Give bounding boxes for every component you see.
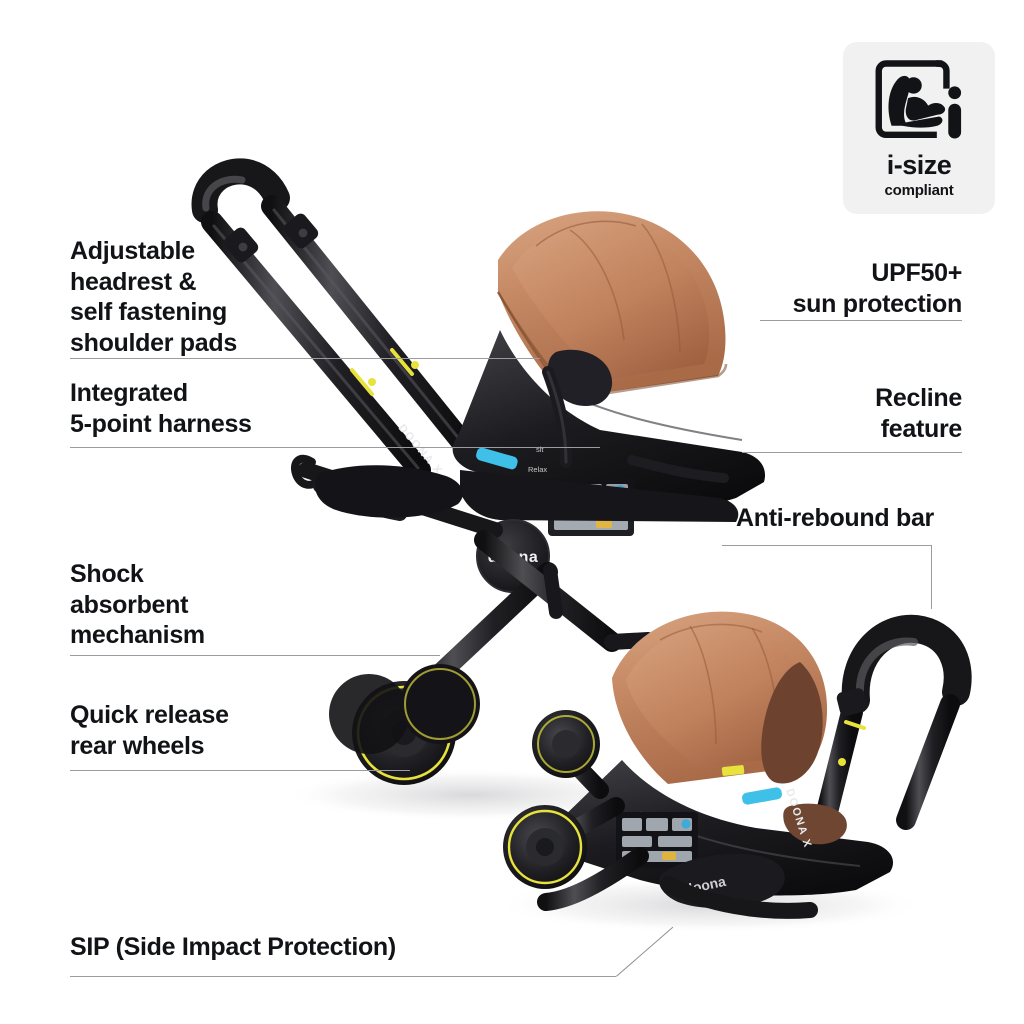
leader-line-sun-protection xyxy=(760,320,962,321)
leader-line-quick-release-wheels xyxy=(70,770,410,771)
callout-sun-protection: UPF50+ sun protection xyxy=(793,258,962,319)
callout-quick-release-wheels: Quick release rear wheels xyxy=(70,700,229,761)
callout-anti-rebound-bar: Anti-rebound bar xyxy=(736,503,934,534)
car-seat-lower-unit: doona DOONA X xyxy=(495,612,958,933)
callout-shock-absorbent-text: Shock absorbent mechanism xyxy=(70,559,205,651)
leader-line-anti-rebound-vertical xyxy=(931,545,932,609)
cyan-accent-strip-lower xyxy=(741,787,782,806)
callout-recline-feature: Recline feature xyxy=(875,383,962,444)
leader-line-sip-horizontal xyxy=(70,976,616,977)
rear-wheel-upper-back xyxy=(400,664,480,744)
i-size-compliant-badge: i-size compliant xyxy=(843,42,995,214)
canopy-lower xyxy=(612,612,827,784)
callout-side-impact-protection: SIP (Side Impact Protection) xyxy=(70,932,396,963)
callout-anti-rebound-bar-text: Anti-rebound bar xyxy=(736,503,934,534)
shell-label-relax: Relax xyxy=(528,465,547,474)
callout-adjustable-headrest: Adjustable headrest & self fastening sho… xyxy=(70,236,237,358)
callout-integrated-harness: Integrated 5-point harness xyxy=(70,378,252,439)
leader-line-anti-rebound-horizontal xyxy=(722,545,932,546)
callout-integrated-harness-text: Integrated 5-point harness xyxy=(70,378,252,439)
infographic-canvas: DOONA X xyxy=(0,0,1024,1024)
callout-sun-protection-text: UPF50+ sun protection xyxy=(793,258,962,319)
callout-shock-absorbent: Shock absorbent mechanism xyxy=(70,559,205,651)
badge-subtitle: compliant xyxy=(884,182,953,199)
leader-line-adjustable-headrest xyxy=(70,358,540,359)
leader-line-recline-feature xyxy=(742,452,962,453)
callout-side-impact-protection-text: SIP (Side Impact Protection) xyxy=(70,932,396,963)
callout-recline-feature-text: Recline feature xyxy=(875,383,962,444)
child-in-car-seat-icon xyxy=(873,58,965,144)
badge-title: i-size xyxy=(887,150,952,181)
rear-wheel-lower-rear xyxy=(532,710,600,778)
leader-line-shock-absorbent xyxy=(70,655,440,656)
canopy-upper xyxy=(498,211,726,398)
anti-rebound-handle xyxy=(820,629,958,840)
rear-wheel-lower-front xyxy=(503,805,587,889)
leader-line-integrated-harness xyxy=(70,447,600,448)
callout-quick-release-wheels-text: Quick release rear wheels xyxy=(70,700,229,761)
callout-adjustable-headrest-text: Adjustable headrest & self fastening sho… xyxy=(70,236,237,358)
